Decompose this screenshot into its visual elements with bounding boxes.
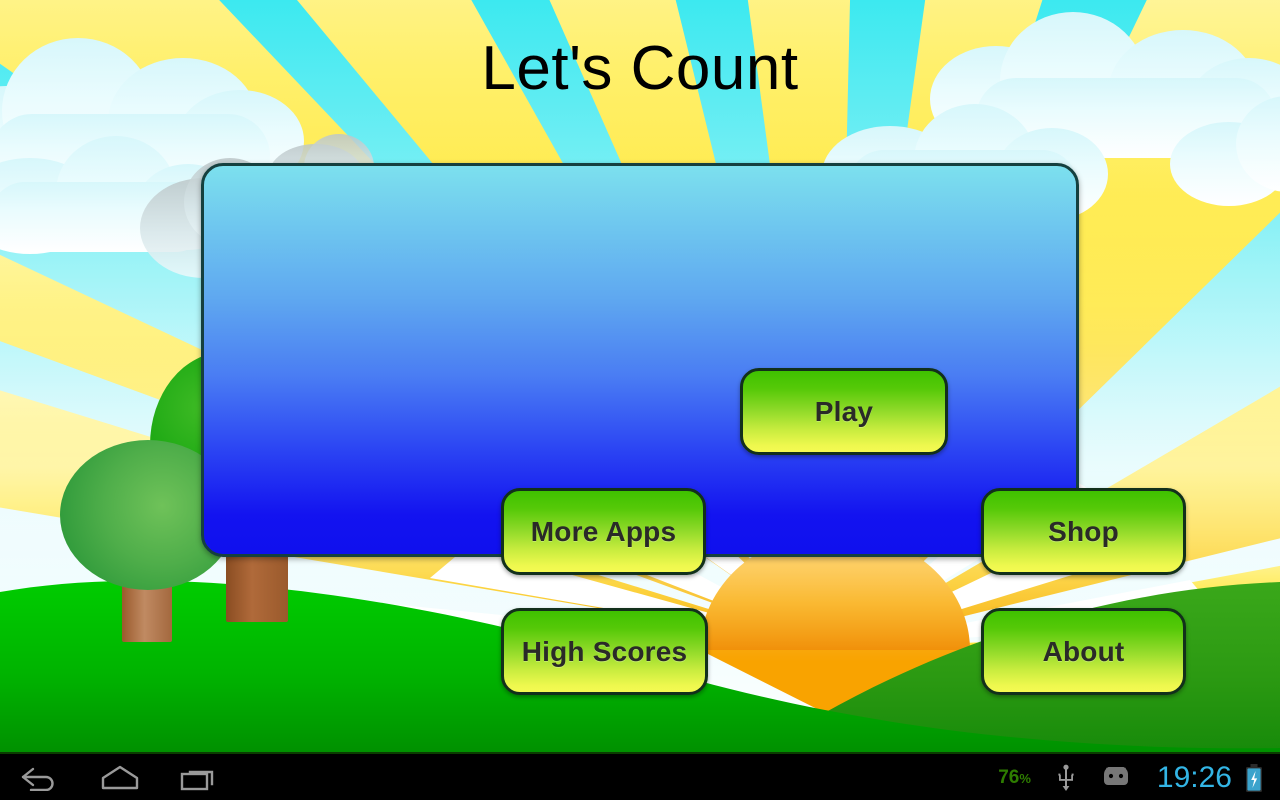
battery-percent-text: 76% — [986, 754, 1043, 800]
battery-percent-value: 76 — [998, 767, 1019, 789]
home-button[interactable] — [80, 754, 160, 800]
back-button[interactable] — [0, 754, 80, 800]
cloud-far-right — [1170, 96, 1280, 206]
recent-apps-button[interactable] — [160, 754, 240, 800]
battery-status — [1242, 754, 1270, 800]
shop-button-label: Shop — [1048, 516, 1119, 548]
usb-status — [1043, 754, 1089, 800]
about-button[interactable]: About — [981, 608, 1186, 695]
android-head-icon — [1101, 767, 1131, 789]
home-icon — [98, 764, 142, 792]
more-apps-button[interactable]: More Apps — [501, 488, 706, 575]
android-system-bar: 76% — [0, 752, 1280, 800]
recent-apps-icon — [179, 764, 221, 792]
page-title: Let's Count — [0, 33, 1280, 104]
app-screen: Let's Count Play More Apps Shop High Sco… — [0, 0, 1280, 800]
clock-text: 19:26 — [1143, 754, 1242, 800]
more-apps-button-label: More Apps — [531, 516, 676, 548]
usb-icon — [1055, 764, 1077, 792]
back-arrow-icon — [20, 765, 60, 791]
play-button[interactable]: Play — [740, 368, 948, 455]
android-debug-status — [1089, 754, 1143, 800]
shop-button[interactable]: Shop — [981, 488, 1186, 575]
status-icons: 76% — [986, 754, 1270, 800]
high-scores-button[interactable]: High Scores — [501, 608, 708, 695]
high-scores-button-label: High Scores — [522, 636, 688, 668]
about-button-label: About — [1043, 636, 1125, 668]
battery-charging-icon — [1244, 763, 1264, 793]
battery-percent-symbol: % — [1019, 771, 1031, 786]
navigation-buttons — [0, 754, 240, 800]
menu-panel: Play More Apps Shop High Scores About — [201, 163, 1079, 557]
play-button-label: Play — [815, 396, 873, 428]
